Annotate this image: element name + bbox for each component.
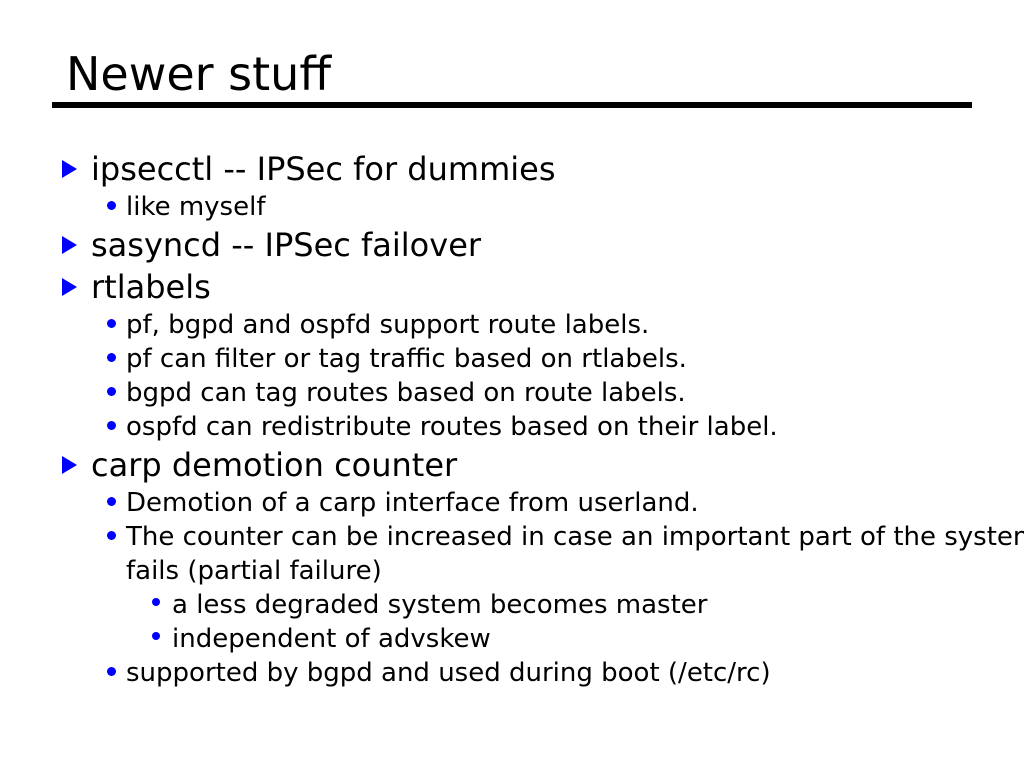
triangle-right-icon xyxy=(62,160,77,178)
bullet-text: like myself xyxy=(126,190,1024,224)
dot-bullet-icon xyxy=(107,656,126,690)
dot-bullet-icon xyxy=(107,308,126,342)
bullet-item-level-2: ospfd can redistribute routes based on t… xyxy=(107,410,1024,444)
slide-title-block: Newer stuff xyxy=(52,48,972,108)
bullet-text: supported by bgpd and used during boot (… xyxy=(126,656,1024,690)
triangle-right-icon xyxy=(62,278,77,296)
bullet-text: ospfd can redistribute routes based on t… xyxy=(126,410,1024,444)
dot-bullet-icon xyxy=(107,190,126,224)
bullet-item-level-3: a less degraded system becomes master xyxy=(152,588,1024,622)
dot-icon xyxy=(107,531,116,540)
bullet-item-level-2: Demotion of a carp interface from userla… xyxy=(107,486,1024,520)
dot-icon xyxy=(107,421,116,430)
bullet-item-level-1: rtlabels xyxy=(62,266,1002,308)
bullet-text: pf, bgpd and ospfd support route labels. xyxy=(126,308,1024,342)
bullet-item-level-2: bgpd can tag routes based on route label… xyxy=(107,376,1024,410)
bullet-item-level-2: like myself xyxy=(107,190,1024,224)
dot-icon xyxy=(107,201,116,210)
dot-icon xyxy=(107,319,116,328)
triangle-right-bullet-icon xyxy=(62,148,91,190)
bullet-text: sasyncd -- IPSec failover xyxy=(91,224,1002,266)
bullet-item-level-1: sasyncd -- IPSec failover xyxy=(62,224,1002,266)
bullet-item-level-1: ipsecctl -- IPSec for dummies xyxy=(62,148,1002,190)
page-title: Newer stuff xyxy=(52,48,972,100)
dot-icon xyxy=(152,598,160,606)
dot-bullet-icon xyxy=(107,486,126,520)
bullet-text: Demotion of a carp interface from userla… xyxy=(126,486,1024,520)
dot-icon xyxy=(107,667,116,676)
dot-bullet-icon xyxy=(152,588,172,622)
bullet-text: independent of advskew xyxy=(172,622,1024,656)
slide-body-outline: ipsecctl -- IPSec for dummieslike myself… xyxy=(62,148,1002,690)
dot-icon xyxy=(107,497,116,506)
bullet-item-level-2: pf can filter or tag traffic based on rt… xyxy=(107,342,1024,376)
bullet-text: ipsecctl -- IPSec for dummies xyxy=(91,148,1002,190)
dot-icon xyxy=(107,353,116,362)
dot-icon xyxy=(107,387,116,396)
bullet-item-level-1: carp demotion counter xyxy=(62,444,1002,486)
dot-bullet-icon xyxy=(152,622,172,656)
bullet-text: pf can filter or tag traffic based on rt… xyxy=(126,342,1024,376)
bullet-text: bgpd can tag routes based on route label… xyxy=(126,376,1024,410)
dot-bullet-icon xyxy=(107,342,126,376)
presentation-slide: Newer stuff ipsecctl -- IPSec for dummie… xyxy=(0,0,1024,768)
triangle-right-icon xyxy=(62,236,77,254)
dot-bullet-icon xyxy=(107,410,126,444)
bullet-text: carp demotion counter xyxy=(91,444,1002,486)
bullet-item-level-2: pf, bgpd and ospfd support route labels. xyxy=(107,308,1024,342)
triangle-right-icon xyxy=(62,456,77,474)
bullet-item-level-3: independent of advskew xyxy=(152,622,1024,656)
bullet-text: rtlabels xyxy=(91,266,1002,308)
title-underline-rule xyxy=(52,102,972,108)
triangle-right-bullet-icon xyxy=(62,224,91,266)
dot-bullet-icon xyxy=(107,376,126,410)
bullet-text: a less degraded system becomes master xyxy=(172,588,1024,622)
triangle-right-bullet-icon xyxy=(62,266,91,308)
bullet-text: The counter can be increased in case an … xyxy=(126,520,1024,588)
bullet-item-level-2: supported by bgpd and used during boot (… xyxy=(107,656,1024,690)
dot-icon xyxy=(152,632,160,640)
bullet-item-level-2: The counter can be increased in case an … xyxy=(107,520,1024,588)
dot-bullet-icon xyxy=(107,520,126,554)
triangle-right-bullet-icon xyxy=(62,444,91,486)
